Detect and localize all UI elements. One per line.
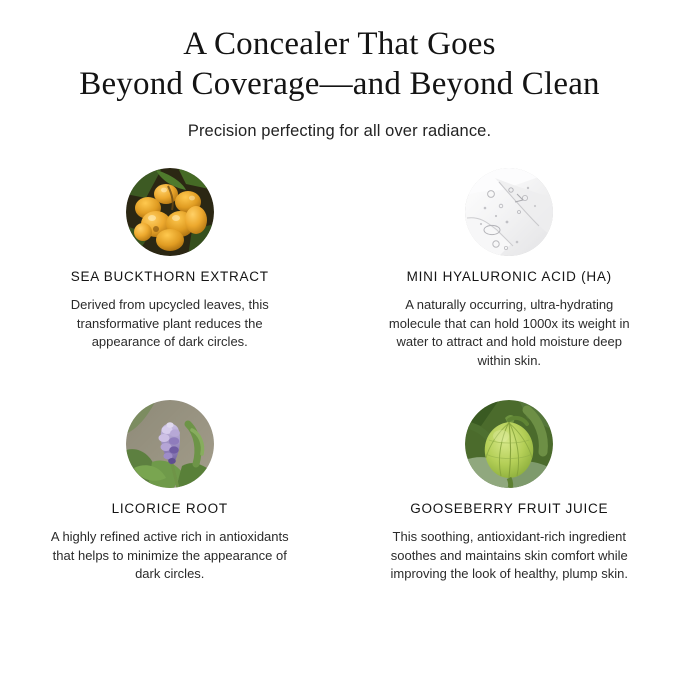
ingredient-grid: SEA BUCKTHORN EXTRACT Derived from upcyc… [0, 160, 679, 584]
ingredient-title: LICORICE ROOT [22, 500, 318, 518]
ingredient-title: GOOSEBERRY FRUIT JUICE [362, 500, 658, 518]
ingredient-description: This soothing, antioxidant-rich ingredie… [384, 528, 634, 584]
gooseberry-fruit-photo [465, 400, 553, 488]
thumbnail-container [22, 392, 318, 496]
ingredient-title: MINI HYALURONIC ACID (HA) [362, 268, 658, 286]
headline-line-2: Beyond Coverage—and Beyond Clean [30, 64, 650, 104]
page-title: A Concealer That Goes Beyond Coverage—an… [30, 24, 650, 104]
ingredient-card-hyaluronic-acid: MINI HYALURONIC ACID (HA) A naturally oc… [340, 160, 679, 370]
thumbnail-container [362, 392, 658, 496]
ingredient-description: A highly refined active rich in antioxid… [45, 528, 295, 584]
headline-line-1: A Concealer That Goes [30, 24, 650, 64]
ingredient-card-sea-buckthorn: SEA BUCKTHORN EXTRACT Derived from upcyc… [0, 160, 340, 370]
ingredient-description: Derived from upcycled leaves, this trans… [45, 296, 295, 352]
thumbnail-container [362, 160, 658, 264]
ingredient-title: SEA BUCKTHORN EXTRACT [22, 268, 318, 286]
licorice-root-flower-photo [126, 400, 214, 488]
ingredient-card-licorice-root: LICORICE ROOT A highly refined active ri… [0, 392, 340, 584]
ingredient-description: A naturally occurring, ultra-hydrating m… [384, 296, 634, 370]
page-subtitle: Precision perfecting for all over radian… [0, 120, 679, 142]
ingredient-benefits-page: A Concealer That Goes Beyond Coverage—an… [0, 0, 679, 679]
hyaluronic-acid-gel-photo [465, 168, 553, 256]
thumbnail-container [22, 160, 318, 264]
page-header: A Concealer That Goes Beyond Coverage—an… [0, 0, 679, 142]
ingredient-card-gooseberry: GOOSEBERRY FRUIT JUICE This soothing, an… [340, 392, 679, 584]
sea-buckthorn-berries-photo [126, 168, 214, 256]
